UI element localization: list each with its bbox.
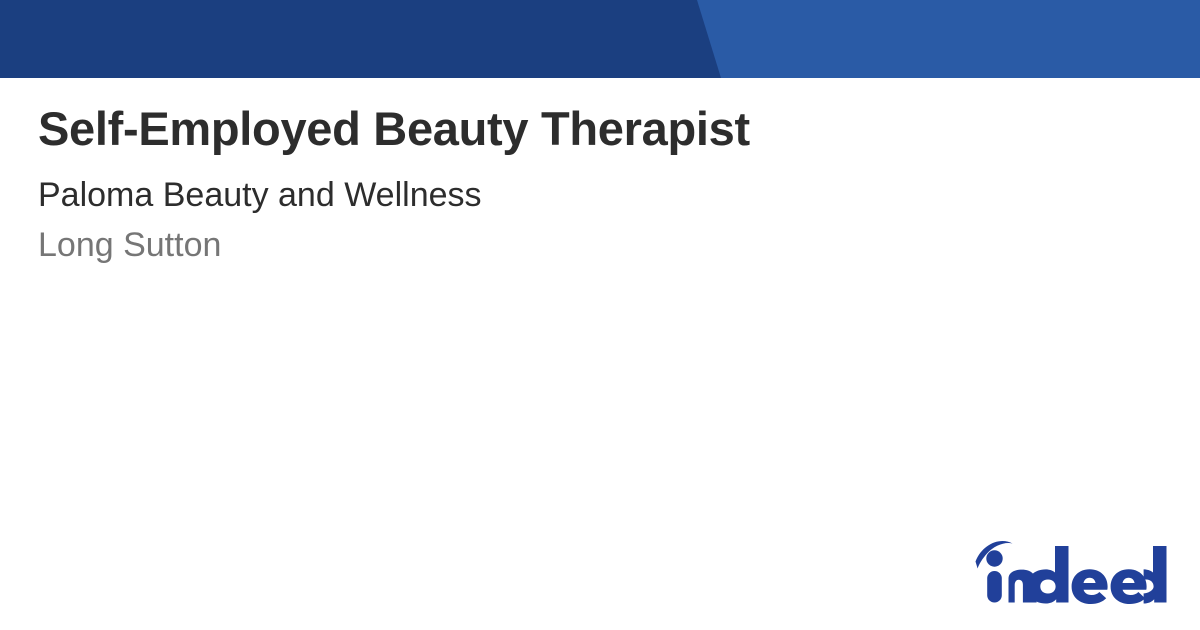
indeed-logo-icon xyxy=(972,538,1168,604)
decorative-header-band xyxy=(0,0,1200,78)
indeed-letter-e-second xyxy=(1111,569,1147,604)
indeed-letter-d-first xyxy=(1027,546,1069,604)
indeed-logo xyxy=(972,538,1168,604)
header-band-dark-segment xyxy=(0,0,760,78)
job-summary: Self-Employed Beauty Therapist Paloma Be… xyxy=(38,78,1162,266)
indeed-letter-i-dot xyxy=(986,550,1002,566)
indeed-letter-i-stem xyxy=(987,571,1002,603)
job-title: Self-Employed Beauty Therapist xyxy=(38,78,1162,158)
indeed-letter-d-second xyxy=(1144,546,1167,604)
company-name: Paloma Beauty and Wellness xyxy=(38,158,1162,216)
indeed-letter-e-first xyxy=(1072,569,1108,604)
job-location: Long Sutton xyxy=(38,216,1162,266)
job-posting-card: Self-Employed Beauty Therapist Paloma Be… xyxy=(0,0,1200,630)
